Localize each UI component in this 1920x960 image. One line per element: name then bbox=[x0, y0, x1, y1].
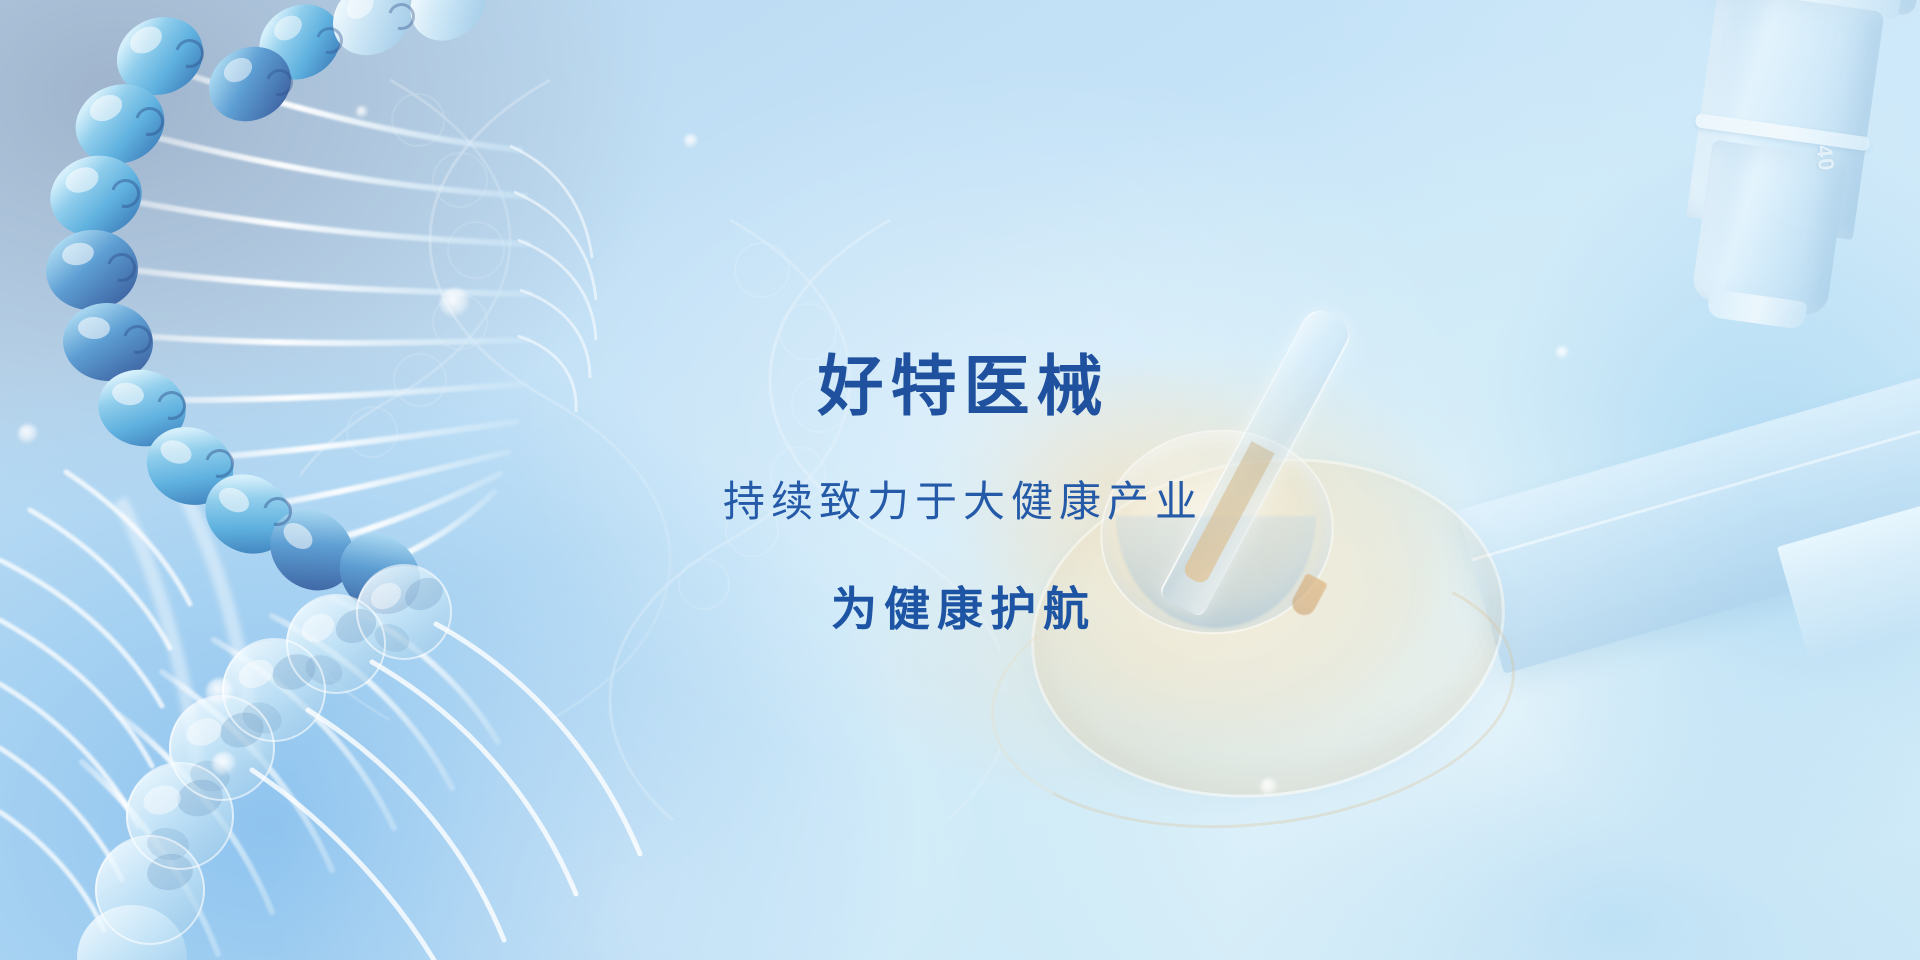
mission-subline: 持续致力于大健康产业 bbox=[0, 421, 1920, 529]
company-name-headline: 好特医械 bbox=[0, 352, 1920, 421]
slogan-tagline: 为健康护航 bbox=[0, 529, 1920, 639]
hero-banner: 40 bbox=[0, 0, 1920, 960]
microscope-objective-lens: 40 bbox=[1605, 0, 1920, 388]
magnification-label: 40 bbox=[1811, 144, 1840, 173]
hero-text-block: 好特医械 持续致力于大健康产业 为健康护航 bbox=[0, 352, 1920, 639]
